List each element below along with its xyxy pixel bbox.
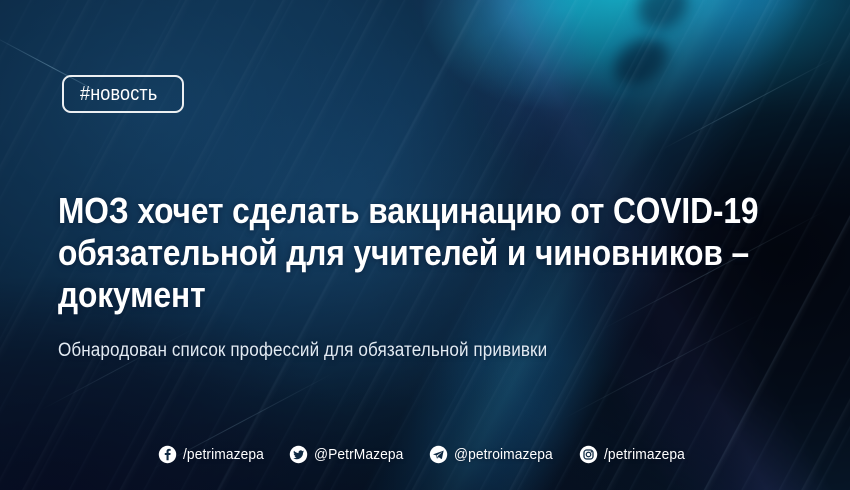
headline-line-1: МОЗ хочет сделать вакцинацию от COVID-19 [58,190,692,232]
hashtag-badge-label: #новость [80,83,157,106]
social-handle-facebook: /petrimazepa [183,446,264,463]
instagram-icon [579,445,598,464]
social-handle-telegram: @petroimazepa [454,446,553,463]
hashtag-badge[interactable]: #новость [62,75,184,113]
social-link-telegram[interactable]: @petroimazepa [429,445,561,464]
social-bar: /petrimazepa @PetrMazepa @petroimazepa [0,445,850,464]
news-card: #новость МОЗ хочет сделать вакцинацию от… [0,0,850,490]
headline-line-2: обязательной для учителей и чиновников – [58,232,692,274]
telegram-icon [429,445,448,464]
social-handle-twitter: @PetrMazepa [314,446,403,463]
subtitle: Обнародован список профессий для обязате… [58,339,547,363]
headline: МОЗ хочет сделать вакцинацию от COVID-19… [58,190,778,316]
social-link-instagram[interactable]: /petrimazepa [579,445,692,464]
social-handle-instagram: /petrimazepa [604,446,685,463]
twitter-icon [289,445,308,464]
social-link-facebook[interactable]: /petrimazepa [158,445,271,464]
social-link-twitter[interactable]: @PetrMazepa [289,445,411,464]
headline-line-3: документ [58,274,692,316]
facebook-icon [158,445,177,464]
